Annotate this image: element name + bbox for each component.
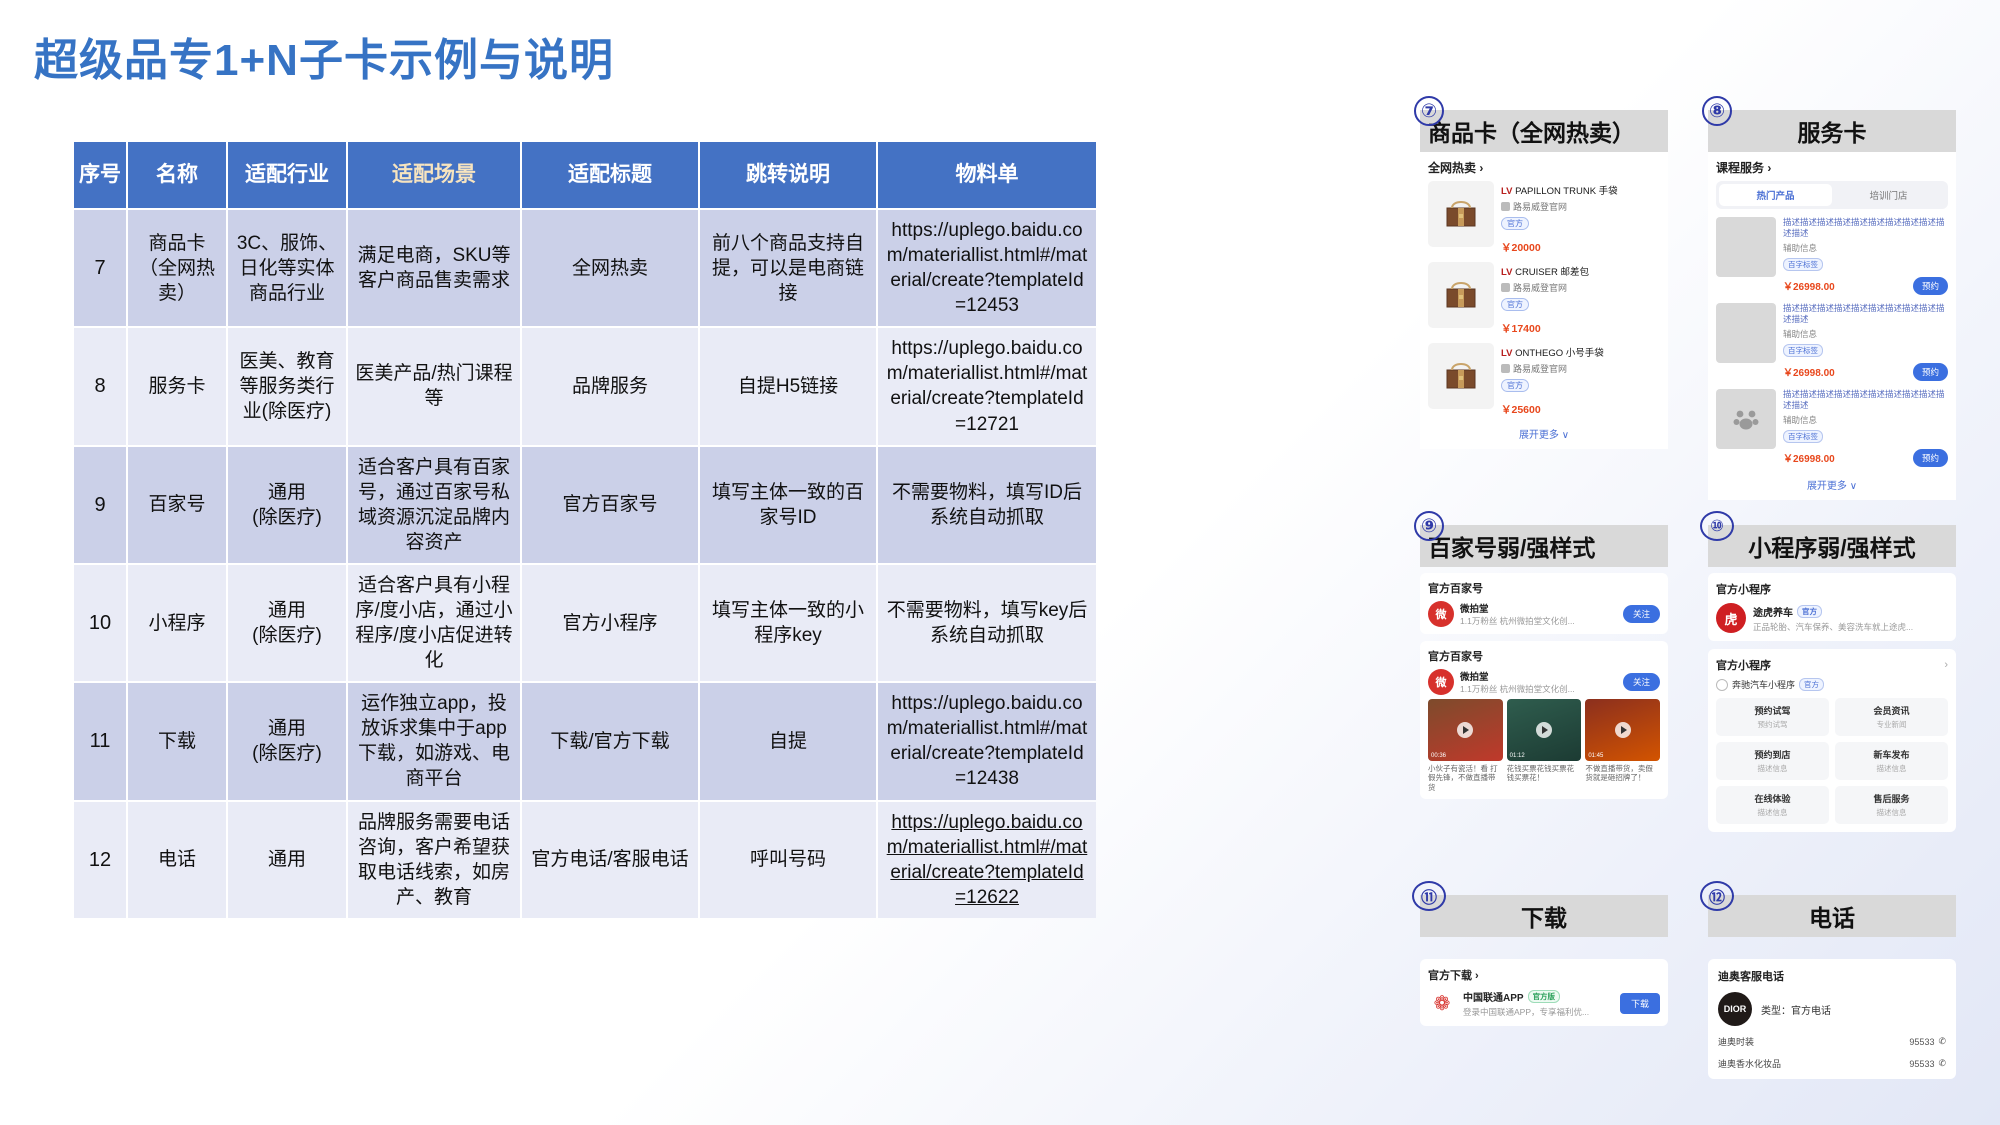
preview-card-product-body: 全网热卖 › LV PAPILLON TRUNK 手袋路易威登官网官方￥2000…: [1420, 152, 1668, 449]
preview-card-product: ⑦ 商品卡（全网热卖） 全网热卖 › LV PAPILLON TRUNK 手袋路…: [1420, 110, 1668, 449]
download-button[interactable]: 下载: [1620, 993, 1660, 1014]
miniprogram-name: 途虎养车: [1753, 604, 1793, 619]
service-price: ￥26998.00: [1783, 450, 1835, 465]
cell-industry: 通用 (除医疗): [228, 683, 346, 799]
entry-sub: 专业新闻: [1837, 719, 1946, 730]
video-captions: 小伙子有瓷活！看 打假先锋，不做直播带货花钱买票花钱买票花钱买票花！不做直播带货…: [1428, 764, 1660, 792]
cell-scene: 适合客户具有小程序/度小店，通过小程序/度小店促进转化: [348, 565, 520, 681]
service-price: ￥26998.00: [1783, 364, 1835, 379]
baijiahao-strong-style: 官方百家号 微 微拍堂 1.1万粉丝 杭州微拍堂文化创... 关注 00:360…: [1420, 641, 1668, 799]
service-badge: 百字标签: [1783, 258, 1823, 271]
product-shop: 路易威登官网: [1501, 362, 1660, 375]
official-badge: 官方: [1797, 605, 1822, 618]
cell-index: 12: [74, 802, 126, 918]
play-icon: [1457, 722, 1473, 738]
official-badge: 官方: [1799, 678, 1824, 691]
service-desc: 描述描述描述描述描述描述描述描述描述描述描述: [1783, 217, 1948, 240]
service-image: [1716, 303, 1776, 363]
app-icon: [1716, 679, 1728, 691]
cell-title: 官方电话/客服电话: [522, 802, 698, 918]
cell-material: https://uplego.baidu.com/materiallist.ht…: [878, 328, 1096, 444]
service-badge: 百字标签: [1783, 344, 1823, 357]
table-row: 10小程序通用 (除医疗)适合客户具有小程序/度小店，通过小程序/度小店促进转化…: [74, 565, 1096, 681]
column-header-name: 名称: [128, 142, 226, 208]
app-name-wrap: 中国联通APP 官方版: [1463, 989, 1613, 1004]
entry-title: 售后服务: [1837, 792, 1946, 805]
product-image: [1428, 343, 1494, 409]
preview-card-service-body: 课程服务 › 热门产品 培训门店 描述描述描述描述描述描述描述描述描述描述描述辅…: [1708, 152, 1956, 500]
service-item[interactable]: 描述描述描述描述描述描述描述描述描述描述描述辅助信息百字标签￥26998.00预…: [1716, 389, 1948, 467]
service-sub: 辅助信息: [1783, 242, 1948, 254]
app-name: 中国联通APP: [1463, 989, 1524, 1004]
miniprogram-entry-grid: 预约试驾预约试驾会员资讯专业新闻预约到店描述信息新车发布描述信息在线体验描述信息…: [1716, 698, 1948, 824]
miniprogram-entry[interactable]: 预约到店描述信息: [1716, 742, 1829, 780]
account-name: 微拍堂: [1460, 601, 1617, 615]
video-strip: 00:3601:1201:45: [1428, 699, 1660, 761]
card-title-11: 下载: [1521, 899, 1567, 933]
phone-label: 迪奥香水化妆品: [1718, 1057, 1781, 1070]
product-price: ￥20000: [1501, 240, 1660, 255]
phone-number-wrap[interactable]: 95533✆: [1909, 1036, 1946, 1047]
miniprogram-entry[interactable]: 新车发布描述信息: [1835, 742, 1948, 780]
service-tab-hot[interactable]: 热门产品: [1719, 184, 1832, 206]
phone-icon: ✆: [1938, 1036, 1946, 1047]
preview-panel: ⑦ 商品卡（全网热卖） 全网热卖 › LV PAPILLON TRUNK 手袋路…: [1420, 110, 1980, 1110]
column-header-material: 物料单: [878, 142, 1096, 208]
miniprogram-logo: 虎: [1716, 603, 1746, 633]
product-price: ￥17400: [1501, 321, 1660, 336]
product-name: LV PAPILLON TRUNK 手袋: [1501, 183, 1660, 197]
brand-row: DIOR 类型：官方电话: [1718, 992, 1946, 1026]
card-number-9: ⑨: [1414, 511, 1444, 541]
entry-sub: 描述信息: [1718, 807, 1827, 818]
miniprogram-entry[interactable]: 售后服务描述信息: [1835, 786, 1948, 824]
cell-index: 8: [74, 328, 126, 444]
cell-index: 11: [74, 683, 126, 799]
table-row: 7商品卡 （全网热卖）3C、服饰、日化等实体商品行业满足电商，SKU等客户商品售…: [74, 210, 1096, 326]
cell-industry: 通用: [228, 802, 346, 918]
column-header-jump: 跳转说明: [700, 142, 876, 208]
service-badge: 百字标签: [1783, 430, 1823, 443]
shop-icon: [1501, 202, 1510, 211]
phone-line[interactable]: 迪奥时装95533✆: [1718, 1035, 1946, 1048]
preview-card-phone-body: 迪奥客服电话 DIOR 类型：官方电话 迪奥时装95533✆迪奥香水化妆品955…: [1708, 937, 1956, 1079]
unicom-logo-icon: ❁: [1428, 990, 1456, 1018]
miniprogram-strong-style: 官方小程序 › 奔驰汽车小程序 官方 预约试驾预约试驾会员资讯专业新闻预约到店描…: [1708, 649, 1956, 832]
service-image: [1716, 389, 1776, 449]
phone-label: 迪奥时装: [1718, 1035, 1754, 1048]
card-number-11: ⑪: [1412, 881, 1446, 911]
table-row: 11下载通用 (除医疗)运作独立app，投放诉求集中于app下载，如游戏、电商平…: [74, 683, 1096, 799]
card-number-7: ⑦: [1414, 96, 1444, 126]
video-thumbnail[interactable]: 00:36: [1428, 699, 1503, 761]
service-desc: 描述描述描述描述描述描述描述描述描述描述描述: [1783, 389, 1948, 412]
account-avatar: 微: [1428, 669, 1454, 695]
cell-industry: 医美、教育等服务类行业(除医疗): [228, 328, 346, 444]
cell-material: 不需要物料，填写key后系统自动抓取: [878, 565, 1096, 681]
miniprogram-app-name: 奔驰汽车小程序: [1732, 678, 1795, 691]
service-price: ￥26998.00: [1783, 278, 1835, 293]
cell-index: 10: [74, 565, 126, 681]
chevron-right-icon[interactable]: ›: [1944, 659, 1948, 671]
column-header-title: 适配标题: [522, 142, 698, 208]
section-label: 官方百家号: [1428, 648, 1660, 664]
cell-material: 不需要物料，填写ID后系统自动抓取: [878, 447, 1096, 563]
cell-scene: 满足电商，SKU等客户商品售卖需求: [348, 210, 520, 326]
miniprogram-name-wrap: 途虎养车 官方: [1753, 604, 1948, 619]
cell-title: 全网热卖: [522, 210, 698, 326]
section-label: 官方小程序: [1716, 657, 1771, 673]
account-row: 微 微拍堂 1.1万粉丝 杭州微拍堂文化创... 关注: [1428, 601, 1660, 627]
miniprogram-desc: 正品轮胎、汽车保养、美容洗车就上途虎...: [1753, 621, 1948, 633]
preview-card-baijiahao-body: 官方百家号 微 微拍堂 1.1万粉丝 杭州微拍堂文化创... 关注 官方百家号 …: [1420, 567, 1668, 799]
product-shop: 路易威登官网: [1501, 281, 1660, 294]
follow-button[interactable]: 关注: [1623, 673, 1660, 691]
cell-index: 7: [74, 210, 126, 326]
account-row: 微 微拍堂 1.1万粉丝 杭州微拍堂文化创... 关注: [1428, 669, 1660, 695]
service-tab-store[interactable]: 培训门店: [1832, 184, 1945, 206]
product-shop: 路易威登官网: [1501, 200, 1660, 213]
card-number-10: ⑩: [1700, 511, 1734, 541]
service-item[interactable]: 描述描述描述描述描述描述描述描述描述描述描述辅助信息百字标签￥26998.00预…: [1716, 217, 1948, 295]
video-duration: 01:45: [1588, 753, 1603, 759]
phone-box: 迪奥客服电话 DIOR 类型：官方电话 迪奥时装95533✆迪奥香水化妆品955…: [1708, 959, 1956, 1079]
card-title-9: 百家号弱/强样式: [1428, 529, 1595, 563]
shop-icon: [1501, 364, 1510, 373]
app-desc: 登录中国联通APP，专享福利优...: [1463, 1006, 1613, 1018]
cell-name: 百家号: [128, 447, 226, 563]
entry-sub: 描述信息: [1837, 763, 1946, 774]
card-title-12: 电话: [1809, 899, 1855, 933]
account-meta: 1.1万粉丝 杭州微拍堂文化创...: [1460, 683, 1617, 695]
product-item[interactable]: LV CRUISER 邮差包路易威登官网官方￥17400: [1428, 262, 1660, 336]
play-icon: [1536, 722, 1552, 738]
cell-name: 商品卡 （全网热卖）: [128, 210, 226, 326]
miniprogram-app-row: 奔驰汽车小程序 官方: [1716, 678, 1948, 691]
column-header-index: 序号: [74, 142, 126, 208]
cell-title: 官方百家号: [522, 447, 698, 563]
entry-title: 预约试驾: [1718, 704, 1827, 717]
preview-card-service: ⑧ 服务卡 课程服务 › 热门产品 培训门店 描述描述描述描述描述描述描述描述描…: [1708, 110, 1956, 500]
official-badge: 官方: [1501, 379, 1529, 392]
cell-industry: 通用 (除医疗): [228, 447, 346, 563]
cell-material: https://uplego.baidu.com/materiallist.ht…: [878, 210, 1096, 326]
download-box: 官方下载 › ❁ 中国联通APP 官方版 登录中国联通APP，专享福利优... …: [1420, 959, 1668, 1026]
cell-industry: 3C、服饰、日化等实体商品行业: [228, 210, 346, 326]
card-title-7: 商品卡（全网热卖）: [1428, 114, 1635, 148]
miniprogram-row[interactable]: 虎 途虎养车 官方 正品轮胎、汽车保养、美容洗车就上途虎...: [1716, 603, 1948, 633]
cell-name: 电话: [128, 802, 226, 918]
product-item[interactable]: LV PAPILLON TRUNK 手袋路易威登官网官方￥20000: [1428, 181, 1660, 255]
section-label: 官方下载 ›: [1428, 967, 1660, 983]
baijiahao-weak-style: 官方百家号 微 微拍堂 1.1万粉丝 杭州微拍堂文化创... 关注: [1420, 573, 1668, 634]
section-label: 官方小程序: [1716, 581, 1948, 597]
entry-sub: 预约试驾: [1718, 719, 1827, 730]
video-caption: 不做直播带货，卖假货就是砸招牌了！: [1585, 764, 1660, 792]
table-row: 8服务卡医美、教育等服务类行业(除医疗)医美产品/热门课程等品牌服务自提H5链接…: [74, 328, 1096, 444]
cell-jump: 填写主体一致的小程序key: [700, 565, 876, 681]
cell-name: 下载: [128, 683, 226, 799]
account-name: 微拍堂: [1460, 669, 1617, 683]
cell-material: https://uplego.baidu.com/materiallist.ht…: [878, 802, 1096, 918]
preview-card-baijiahao: ⑨ 百家号弱/强样式 官方百家号 微 微拍堂 1.1万粉丝 杭州微拍堂文化创..…: [1420, 525, 1668, 806]
service-tabs[interactable]: 热门产品 培训门店: [1716, 181, 1948, 209]
section-label: 迪奥客服电话: [1718, 968, 1946, 984]
miniprogram-entry[interactable]: 在线体验描述信息: [1716, 786, 1829, 824]
phone-number: 95533: [1909, 1059, 1934, 1069]
preview-card-miniprogram-header: ⑩ 小程序弱/强样式: [1708, 525, 1956, 567]
card-number-8: ⑧: [1702, 96, 1732, 126]
preview-card-service-header: ⑧ 服务卡: [1708, 110, 1956, 152]
video-duration: 01:12: [1510, 753, 1525, 759]
cell-name: 服务卡: [128, 328, 226, 444]
section-label: 课程服务 ›: [1716, 159, 1948, 176]
cell-title: 官方小程序: [522, 565, 698, 681]
official-version-badge: 官方版: [1528, 990, 1561, 1003]
reserve-button[interactable]: 预约: [1913, 363, 1948, 381]
product-name: LV ONTHEGO 小号手袋: [1501, 345, 1660, 359]
video-caption: 花钱买票花钱买票花钱买票花！: [1507, 764, 1582, 792]
dior-logo-icon: DIOR: [1718, 992, 1752, 1026]
product-image: [1428, 262, 1494, 328]
reserve-button[interactable]: 预约: [1913, 277, 1948, 295]
preview-card-miniprogram: ⑩ 小程序弱/强样式 官方小程序 虎 途虎养车 官方 正品轮胎、汽车保养、美容洗…: [1708, 525, 1956, 840]
cell-name: 小程序: [128, 565, 226, 681]
entry-title: 预约到店: [1718, 748, 1827, 761]
preview-card-download: ⑪ 下载 官方下载 › ❁ 中国联通APP 官方版 登录中国联通APP，专享福利…: [1420, 895, 1668, 1026]
service-sub: 辅助信息: [1783, 328, 1948, 340]
phone-number-wrap[interactable]: 95533✆: [1909, 1058, 1946, 1069]
miniprogram-entry[interactable]: 预约试驾预约试驾: [1716, 698, 1829, 736]
account-meta: 1.1万粉丝 杭州微拍堂文化创...: [1460, 615, 1617, 627]
miniprogram-strong-header: 官方小程序 ›: [1716, 657, 1948, 673]
cell-scene: 品牌服务需要电话咨询，客户希望获取电话线索，如房产、教育: [348, 802, 520, 918]
service-item[interactable]: 描述描述描述描述描述描述描述描述描述描述描述辅助信息百字标签￥26998.00预…: [1716, 303, 1948, 381]
product-image: [1428, 181, 1494, 247]
official-badge: 官方: [1501, 298, 1529, 311]
table-row: 9百家号通用 (除医疗)适合客户具有百家号，通过百家号私域资源沉淀品牌内容资产官…: [74, 447, 1096, 563]
phone-type: 类型：官方电话: [1761, 1002, 1831, 1017]
column-header-industry: 适配行业: [228, 142, 346, 208]
preview-card-miniprogram-body: 官方小程序 虎 途虎养车 官方 正品轮胎、汽车保养、美容洗车就上途虎... 官方…: [1708, 567, 1956, 832]
video-caption: 小伙子有瓷活！看 打假先锋，不做直播带货: [1428, 764, 1503, 792]
reserve-button[interactable]: 预约: [1913, 449, 1948, 467]
preview-card-product-header: ⑦ 商品卡（全网热卖）: [1420, 110, 1668, 152]
entry-sub: 描述信息: [1718, 763, 1827, 774]
entry-sub: 描述信息: [1837, 807, 1946, 818]
expand-more-link[interactable]: 展开更多 ∨: [1716, 475, 1948, 492]
table-header-row: 序号 名称 适配行业 适配场景 适配标题 跳转说明 物料单: [74, 142, 1096, 208]
cell-jump: 自提: [700, 683, 876, 799]
cell-jump: 前八个商品支持自提，可以是电商链接: [700, 210, 876, 326]
entry-title: 在线体验: [1718, 792, 1827, 805]
card-number-12: ⑫: [1700, 881, 1734, 911]
preview-card-baijiahao-header: ⑨ 百家号弱/强样式: [1420, 525, 1668, 567]
miniprogram-weak-style: 官方小程序 虎 途虎养车 官方 正品轮胎、汽车保养、美容洗车就上途虎...: [1708, 573, 1956, 641]
product-price: ￥25600: [1501, 402, 1660, 417]
cell-title: 品牌服务: [522, 328, 698, 444]
service-image: [1716, 217, 1776, 277]
section-label: 官方百家号: [1428, 580, 1660, 596]
video-thumbnail[interactable]: 01:45: [1585, 699, 1660, 761]
spec-table: 序号 名称 适配行业 适配场景 适配标题 跳转说明 物料单 7商品卡 （全网热卖…: [72, 140, 1098, 920]
cell-industry: 通用 (除医疗): [228, 565, 346, 681]
video-duration: 00:36: [1431, 753, 1446, 759]
cell-scene: 适合客户具有百家号，通过百家号私域资源沉淀品牌内容资产: [348, 447, 520, 563]
cell-index: 9: [74, 447, 126, 563]
miniprogram-entry[interactable]: 会员资讯专业新闻: [1835, 698, 1948, 736]
account-avatar: 微: [1428, 601, 1454, 627]
cell-title: 下载/官方下载: [522, 683, 698, 799]
video-thumbnail[interactable]: 01:12: [1507, 699, 1582, 761]
phone-icon: ✆: [1938, 1058, 1946, 1069]
preview-card-phone-header: ⑫ 电话: [1708, 895, 1956, 937]
preview-card-phone: ⑫ 电话 迪奥客服电话 DIOR 类型：官方电话 迪奥时装95533✆迪奥香水化…: [1708, 895, 1956, 1079]
cell-material: https://uplego.baidu.com/materiallist.ht…: [878, 683, 1096, 799]
column-header-scene: 适配场景: [348, 142, 520, 208]
download-row: ❁ 中国联通APP 官方版 登录中国联通APP，专享福利优... 下载: [1428, 989, 1660, 1018]
preview-card-download-header: ⑪ 下载: [1420, 895, 1668, 937]
table-row: 12电话通用品牌服务需要电话咨询，客户希望获取电话线索，如房产、教育官方电话/客…: [74, 802, 1096, 918]
service-desc: 描述描述描述描述描述描述描述描述描述描述描述: [1783, 303, 1948, 326]
product-name: LV CRUISER 邮差包: [1501, 264, 1660, 278]
shop-icon: [1501, 283, 1510, 292]
play-icon: [1615, 722, 1631, 738]
cell-jump: 呼叫号码: [700, 802, 876, 918]
card-title-10: 小程序弱/强样式: [1748, 529, 1915, 563]
page-title: 超级品专1+N子卡示例与说明: [34, 24, 614, 88]
cell-jump: 自提H5链接: [700, 328, 876, 444]
product-item[interactable]: LV ONTHEGO 小号手袋路易威登官网官方￥25600: [1428, 343, 1660, 417]
cell-scene: 运作独立app，投放诉求集中于app下载，如游戏、电商平台: [348, 683, 520, 799]
card-title-8: 服务卡: [1798, 114, 1867, 148]
cell-scene: 医美产品/热门课程等: [348, 328, 520, 444]
cell-jump: 填写主体一致的百家号ID: [700, 447, 876, 563]
expand-more-link[interactable]: 展开更多 ∨: [1428, 424, 1660, 441]
entry-title: 会员资讯: [1837, 704, 1946, 717]
official-badge: 官方: [1501, 217, 1529, 230]
phone-number: 95533: [1909, 1037, 1934, 1047]
follow-button[interactable]: 关注: [1623, 605, 1660, 623]
section-label: 全网热卖 ›: [1428, 159, 1660, 176]
phone-line-list: 迪奥时装95533✆迪奥香水化妆品95533✆: [1718, 1035, 1946, 1070]
preview-card-download-body: 官方下载 › ❁ 中国联通APP 官方版 登录中国联通APP，专享福利优... …: [1420, 937, 1668, 1026]
service-sub: 辅助信息: [1783, 414, 1948, 426]
phone-line[interactable]: 迪奥香水化妆品95533✆: [1718, 1057, 1946, 1070]
entry-title: 新车发布: [1837, 748, 1946, 761]
